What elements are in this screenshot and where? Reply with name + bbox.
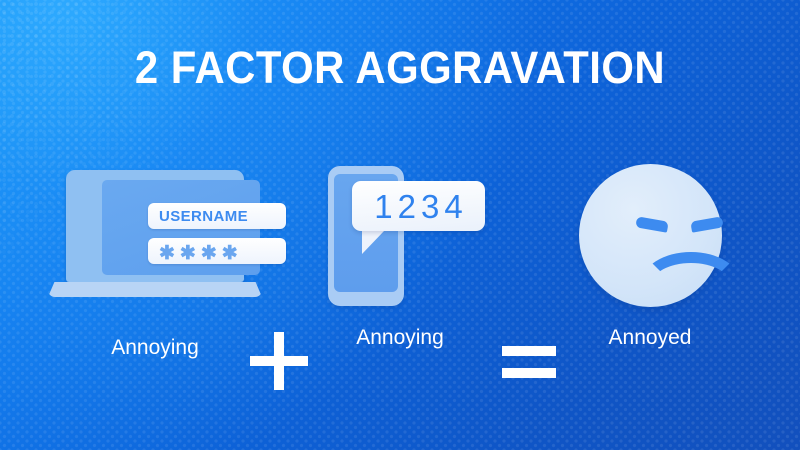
username-field-label: USERNAME — [159, 208, 248, 225]
username-field[interactable]: USERNAME — [148, 203, 286, 229]
sad-face-left-eye — [635, 216, 668, 232]
equals-top-bar — [502, 346, 556, 356]
face-panel: Annoyed — [550, 160, 750, 320]
sad-face-icon — [579, 164, 722, 307]
face-caption: Annoyed — [550, 326, 750, 350]
equation-row: USERNAME ✱✱✱✱ Annoying 1234 — [0, 160, 800, 360]
plus-vertical-bar — [274, 332, 284, 390]
laptop-screen: USERNAME ✱✱✱✱ — [102, 180, 260, 275]
sad-face-right-eye — [690, 216, 723, 232]
speech-bubble-tail — [362, 230, 385, 254]
laptop-panel: USERNAME ✱✱✱✱ Annoying — [40, 170, 270, 320]
laptop-icon: USERNAME ✱✱✱✱ — [66, 170, 244, 282]
otp-code-text: 1234 — [374, 190, 467, 223]
phone-panel: 1234 Annoying — [300, 160, 500, 320]
sad-face-frown-mouth — [641, 252, 741, 316]
equals-bottom-bar — [502, 368, 556, 378]
laptop-base — [48, 282, 262, 297]
password-field[interactable]: ✱✱✱✱ — [148, 238, 286, 264]
phone-caption: Annoying — [300, 326, 500, 350]
laptop-caption: Annoying — [40, 336, 270, 360]
password-field-mask: ✱✱✱✱ — [159, 244, 243, 263]
page-title: 2 FACTOR AGGRAVATION — [28, 42, 772, 94]
poster-canvas: 2 FACTOR AGGRAVATION USERNAME ✱✱✱✱ Annoy… — [0, 0, 800, 450]
speech-bubble: 1234 — [352, 181, 485, 231]
